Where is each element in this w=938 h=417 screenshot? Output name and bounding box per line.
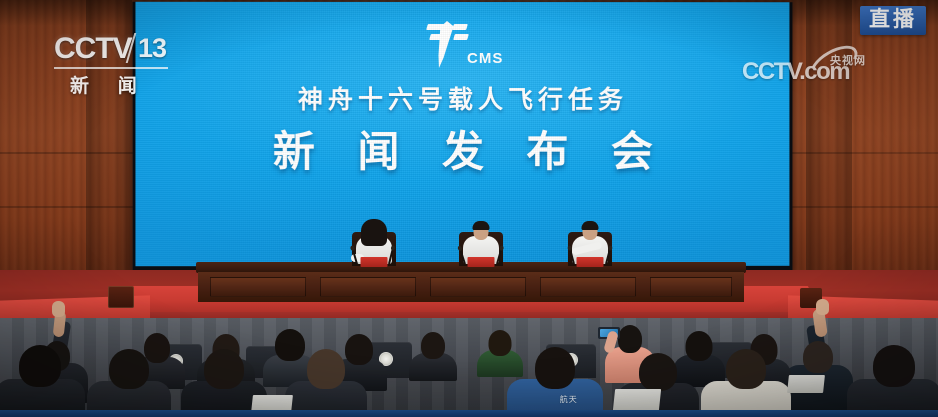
cctv-com-chinese-text: 央视网 <box>830 52 866 68</box>
channel-subtitle-news: 新 闻 <box>70 71 149 98</box>
channel-number: 13 <box>138 33 166 64</box>
name-placard <box>361 257 388 267</box>
audience-member-front <box>700 359 792 417</box>
audience-area: 航天 CHINA SPACE <box>0 300 938 417</box>
audience-member-front <box>846 357 938 417</box>
live-badge-text: 直播 <box>869 9 917 30</box>
raised-hand <box>816 299 829 315</box>
cms-rocket-icon <box>417 18 473 68</box>
audience-member-front <box>86 357 172 417</box>
audience-member <box>408 329 458 381</box>
laptop <box>613 389 661 411</box>
name-placard <box>468 257 495 267</box>
speaker-left <box>348 226 400 266</box>
cctv-com-watermark: CCTV.com 央视网 <box>742 52 892 86</box>
cctv-wordmark: CCTV <box>54 32 132 66</box>
cms-logo-text: CMS <box>467 50 503 67</box>
speaker-center <box>455 226 507 266</box>
press-table-front <box>198 272 744 302</box>
name-placard <box>577 257 604 267</box>
audience-member-front <box>284 359 368 417</box>
logo-underline <box>54 67 168 69</box>
cctv13-channel-logo: CCTV 13 新 闻 <box>52 32 170 94</box>
screen-headline-event: 新 闻 发 布 会 <box>135 118 789 179</box>
audience-member-aerospace-jacket: 航天 CHINA SPACE <box>506 357 604 417</box>
raised-hand <box>52 301 65 317</box>
audience-member-front <box>0 355 86 417</box>
live-badge: 直播 <box>860 6 926 35</box>
cms-logo: CMS <box>409 18 517 74</box>
jacket-logo-text: 航天 <box>560 394 578 405</box>
screen-headline-mission: 神舟十六号载人飞行任务 <box>135 80 789 116</box>
broadcast-frame: CMS 神舟十六号载人飞行任务 新 闻 发 布 会 <box>0 0 938 417</box>
speaker-right <box>564 226 616 266</box>
laptop <box>787 375 825 393</box>
foreground-blue-strip <box>0 410 938 417</box>
